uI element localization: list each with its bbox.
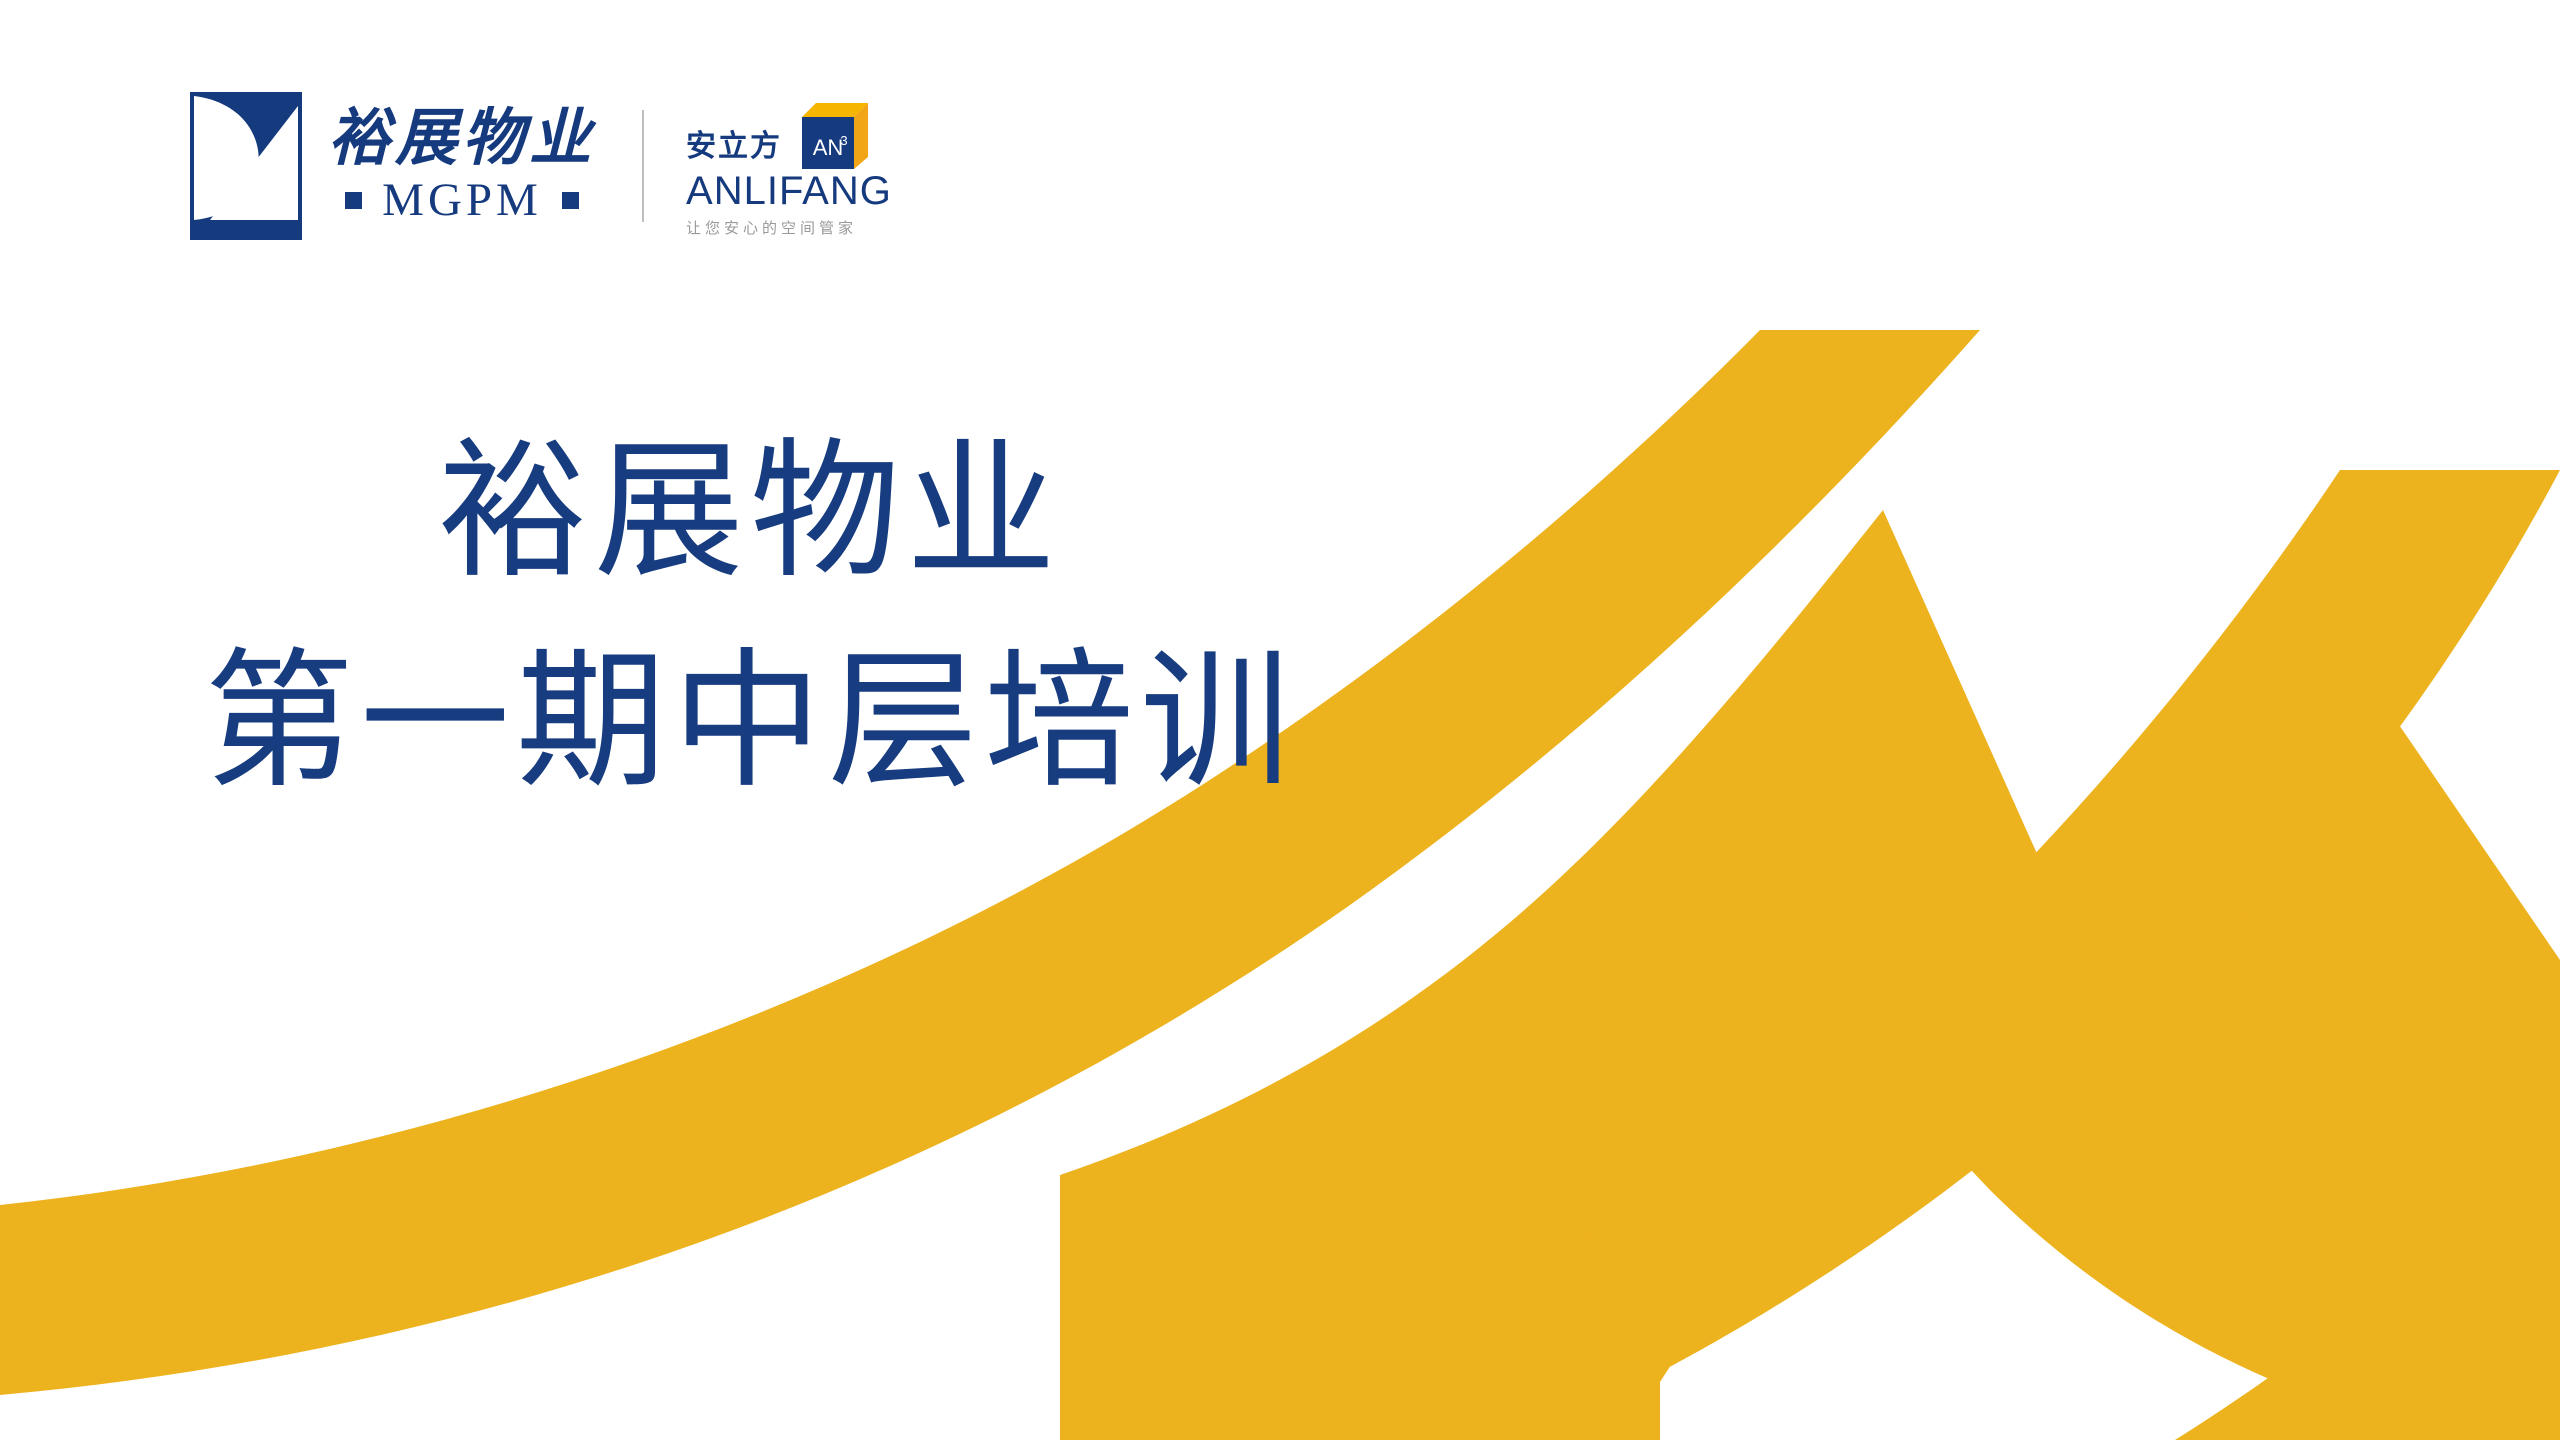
bottom-right-wedge (2175, 1130, 2560, 1440)
title-slide: 裕展物业 MGPM 安立方 A (0, 0, 2560, 1440)
square-bullet-icon-right (562, 192, 579, 209)
mgpm-english-name: MGPM (382, 177, 542, 224)
right-peak-shape (2060, 700, 2560, 1440)
an-cube-icon: AN 3 (794, 99, 868, 173)
svg-text:AN: AN (813, 135, 844, 160)
mgpm-sail-mark-icon (190, 92, 302, 240)
mgpm-wordmark: 裕展物业 MGPM (328, 108, 596, 224)
mgpm-chinese-name: 裕展物业 (328, 108, 596, 171)
anlifang-logo: 安立方 AN 3 ANLIFANG 让您安心的空间管家 (686, 97, 892, 236)
title-line-company: 裕展物业 (0, 430, 1500, 592)
svg-text:3: 3 (840, 133, 847, 148)
anlifang-tagline: 让您安心的空间管家 (686, 221, 857, 236)
title-line-subject: 第一期中层培训 (0, 640, 1500, 802)
mgpm-english-row: MGPM (345, 177, 579, 224)
brand-logo-bar: 裕展物业 MGPM 安立方 A (190, 92, 892, 240)
vertical-divider (642, 110, 644, 222)
slide-title: 裕展物业 第一期中层培训 (0, 430, 1500, 802)
square-bullet-icon-left (345, 192, 362, 209)
mgpm-logo: 裕展物业 MGPM (190, 92, 596, 240)
anlifang-english-name: ANLIFANG (686, 170, 892, 212)
anlifang-top-row: 安立方 AN 3 (686, 99, 868, 165)
anlifang-chinese-name: 安立方 (686, 132, 782, 165)
